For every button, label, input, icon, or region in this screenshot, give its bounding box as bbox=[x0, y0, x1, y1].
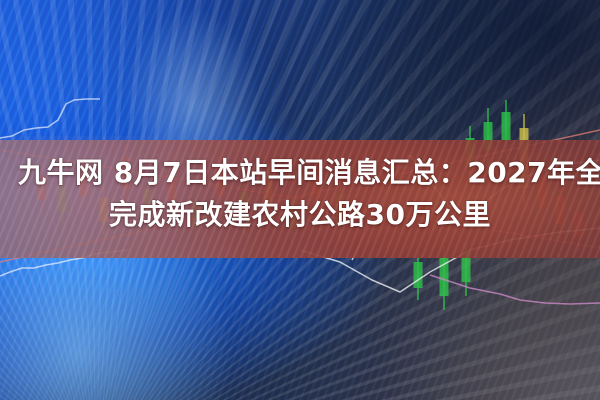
headline-line-2: 完成新改建农村公路30万公里 bbox=[18, 194, 582, 236]
news-banner-image: 九牛网 8月7日本站早间消息汇总：2027年全国 完成新改建农村公路30万公里 bbox=[0, 0, 600, 400]
headline-line-1: 九牛网 8月7日本站早间消息汇总：2027年全国 bbox=[18, 152, 582, 194]
headline-text: 九牛网 8月7日本站早间消息汇总：2027年全国 完成新改建农村公路30万公里 bbox=[0, 152, 600, 236]
